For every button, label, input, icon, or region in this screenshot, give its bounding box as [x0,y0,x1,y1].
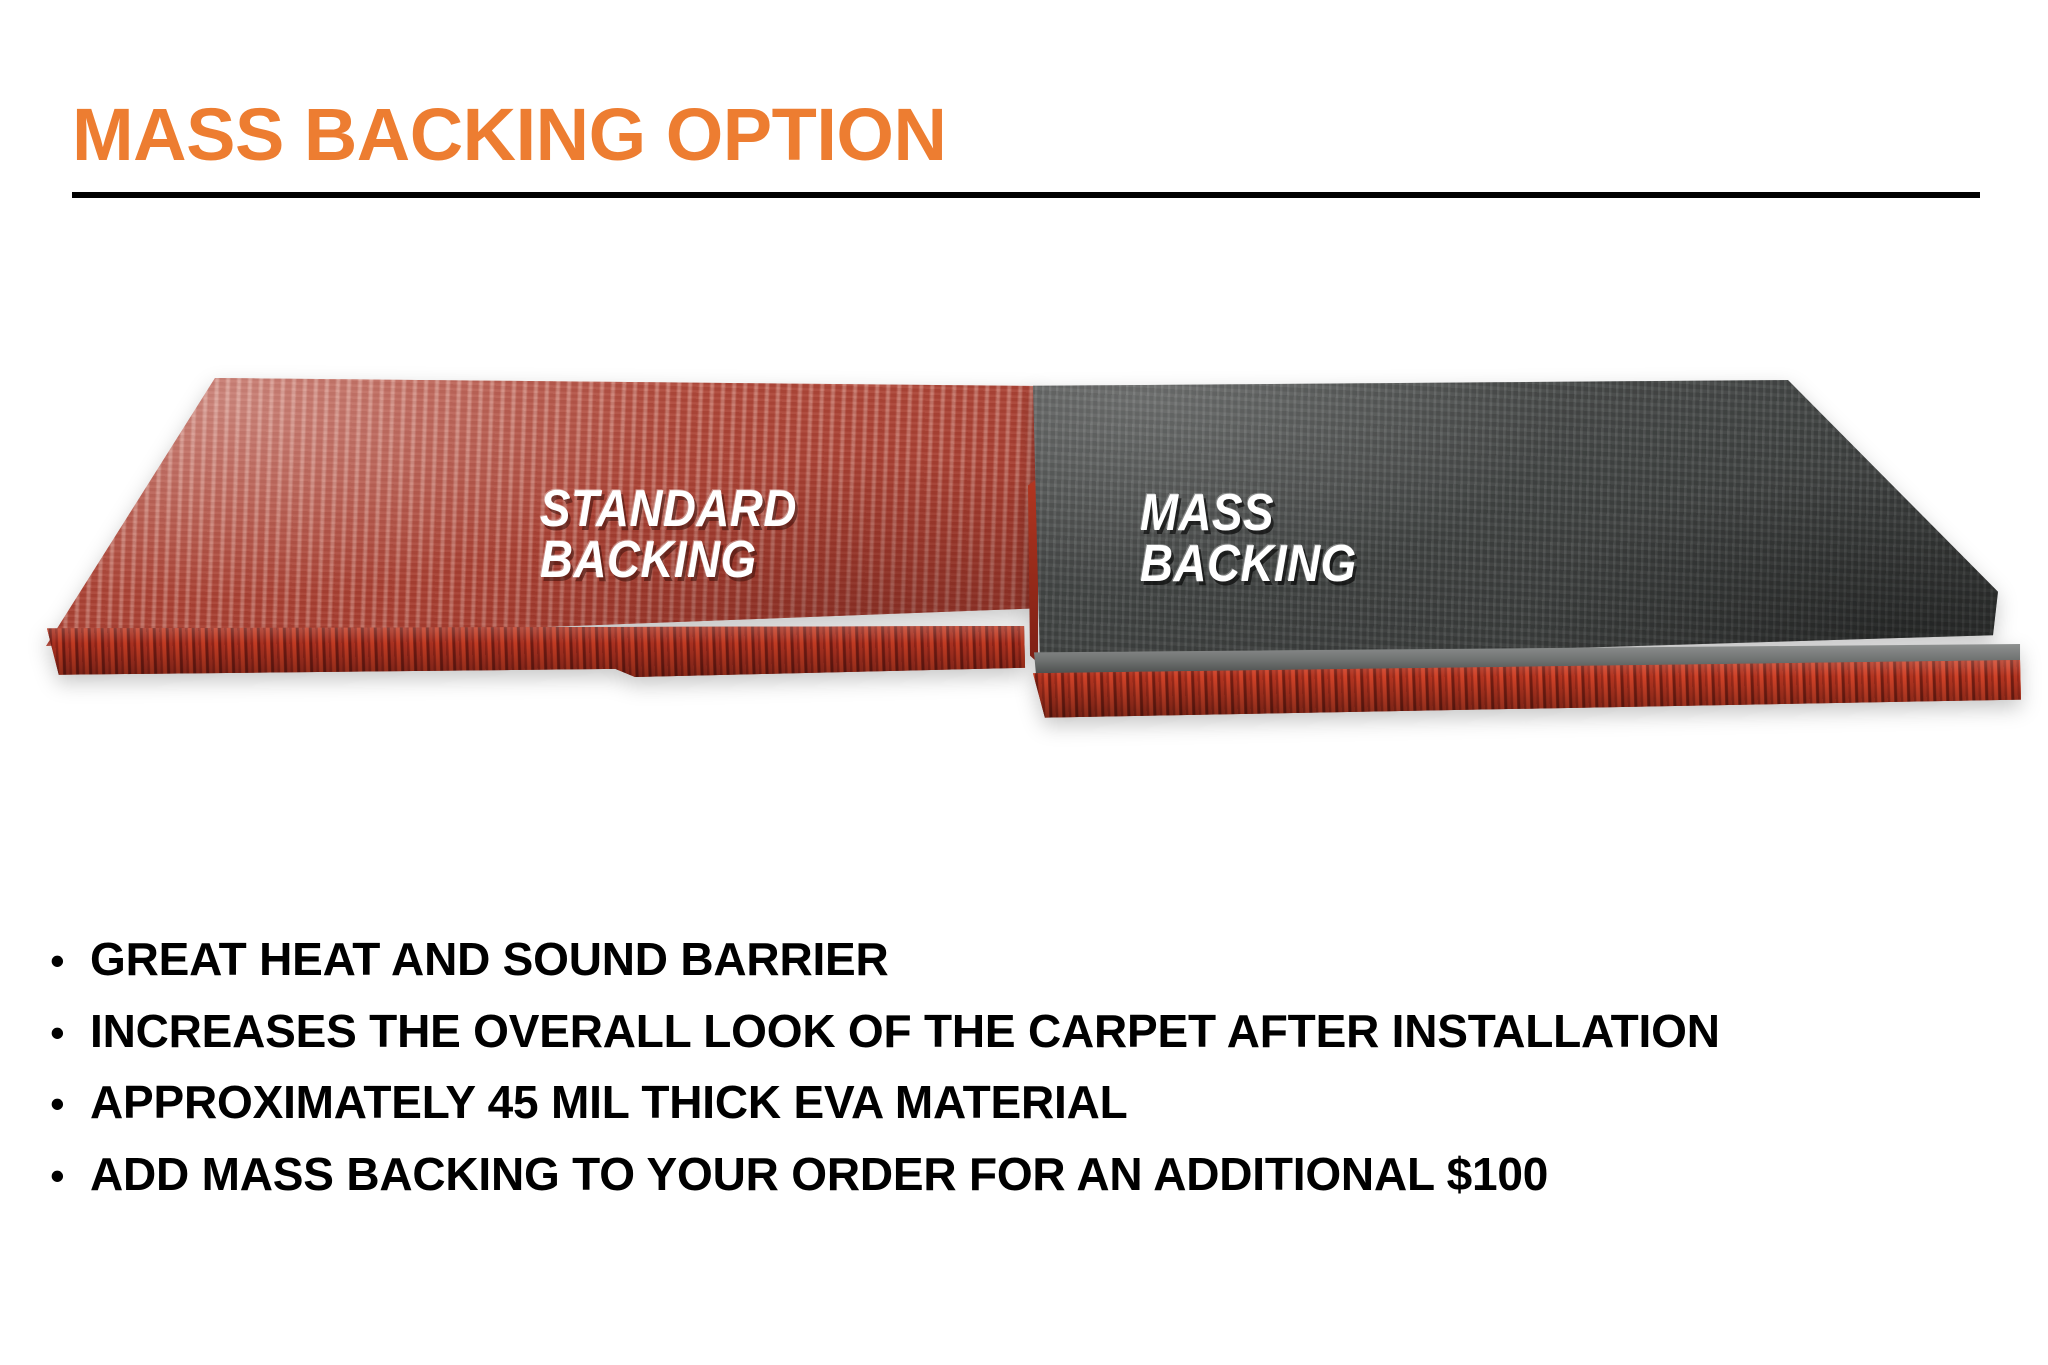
bullet-marker-icon: • [44,1012,90,1054]
standard-backing-sample-image: STANDARD BACKING [40,368,1040,768]
feature-bullet-list: • GREAT HEAT AND SOUND BARRIER • INCREAS… [44,935,2024,1222]
list-item: • GREAT HEAT AND SOUND BARRIER [44,935,2024,985]
sample-comparison-images: STANDARD BACKING MASS BACKING [0,360,2048,780]
bullet-text: GREAT HEAT AND SOUND BARRIER [90,935,889,985]
bullet-text: APPROXIMATELY 45 MIL THICK EVA MATERIAL [90,1078,1128,1128]
list-item: • INCREASES THE OVERALL LOOK OF THE CARP… [44,1007,2024,1057]
mass-backing-surface-sheen [1028,380,2028,670]
title-divider [72,192,1980,198]
bullet-marker-icon: • [44,940,90,982]
page-title: MASS BACKING OPTION [72,98,1982,172]
standard-backing-surface-sheen [40,378,1040,646]
slide-canvas: MASS BACKING OPTION STANDARD BACKING MAS… [0,0,2048,1365]
mass-backing-sample-image: MASS BACKING [1028,368,2028,768]
bullet-marker-icon: • [44,1155,90,1197]
list-item: • APPROXIMATELY 45 MIL THICK EVA MATERIA… [44,1078,2024,1128]
title-block: MASS BACKING OPTION [72,98,1982,198]
list-item: • ADD MASS BACKING TO YOUR ORDER FOR AN … [44,1150,2024,1200]
standard-carpet-pile-shading [44,626,1029,684]
bullet-text: INCREASES THE OVERALL LOOK OF THE CARPET… [90,1007,1720,1057]
bullet-marker-icon: • [44,1083,90,1125]
bullet-text: ADD MASS BACKING TO YOUR ORDER FOR AN AD… [90,1150,1548,1200]
